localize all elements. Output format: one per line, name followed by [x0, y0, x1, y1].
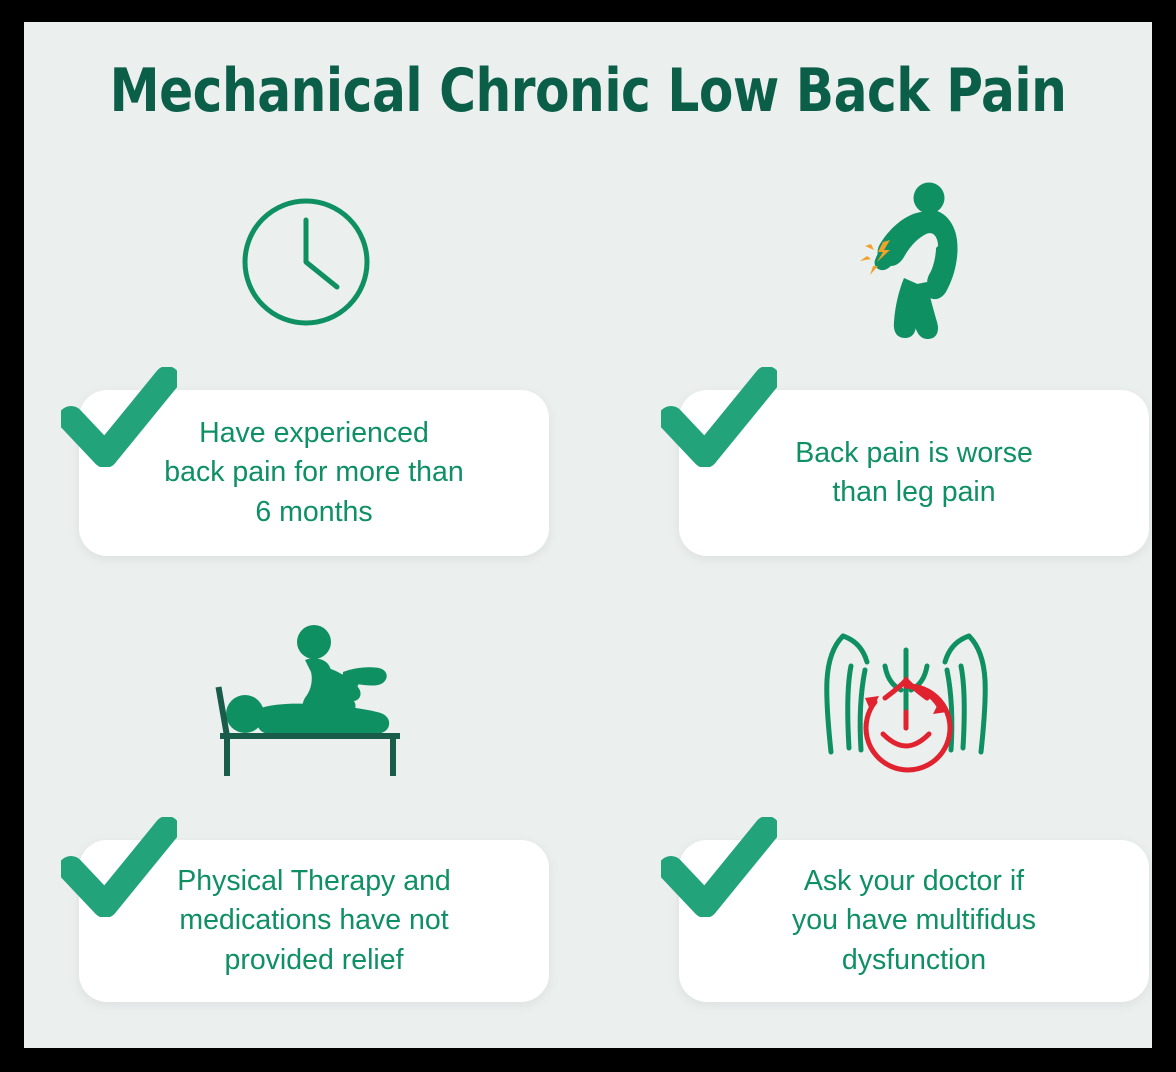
physical-therapy-icon — [201, 624, 411, 776]
icon-slot-2 — [655, 162, 1152, 362]
lower-back-multifidus-icon — [813, 624, 999, 776]
person-back-pain-icon — [847, 182, 965, 342]
criterion-item-1: Have experienced back pain for more than… — [55, 162, 557, 562]
criterion-text-1: Have experienced back pain for more than… — [164, 414, 463, 531]
criterion-card-3: Physical Therapy and medications have no… — [79, 840, 549, 1002]
criterion-text-3: Physical Therapy and medications have no… — [177, 862, 451, 979]
icon-slot-4 — [655, 607, 1152, 792]
criterion-card-1: Have experienced back pain for more than… — [79, 390, 549, 556]
criterion-card-4: Ask your doctor if you have multifidus d… — [679, 840, 1149, 1002]
criterion-card-2: Back pain is worse than leg pain — [679, 390, 1149, 556]
criterion-item-4: Ask your doctor if you have multifidus d… — [655, 607, 1152, 1007]
criterion-text-4: Ask your doctor if you have multifidus d… — [792, 862, 1036, 979]
infographic-frame: Mechanical Chronic Low Back Pain Have ex… — [0, 0, 1176, 1072]
icon-slot-3 — [55, 607, 557, 792]
criterion-text-2: Back pain is worse than leg pain — [795, 434, 1033, 512]
icon-slot-1 — [55, 162, 557, 362]
criterion-item-2: Back pain is worse than leg pain — [655, 162, 1152, 562]
page-title: Mechanical Chronic Low Back Pain — [63, 60, 1112, 123]
criterion-item-3: Physical Therapy and medications have no… — [55, 607, 557, 1007]
infographic-canvas: Mechanical Chronic Low Back Pain Have ex… — [24, 22, 1152, 1048]
clock-icon — [238, 194, 374, 330]
